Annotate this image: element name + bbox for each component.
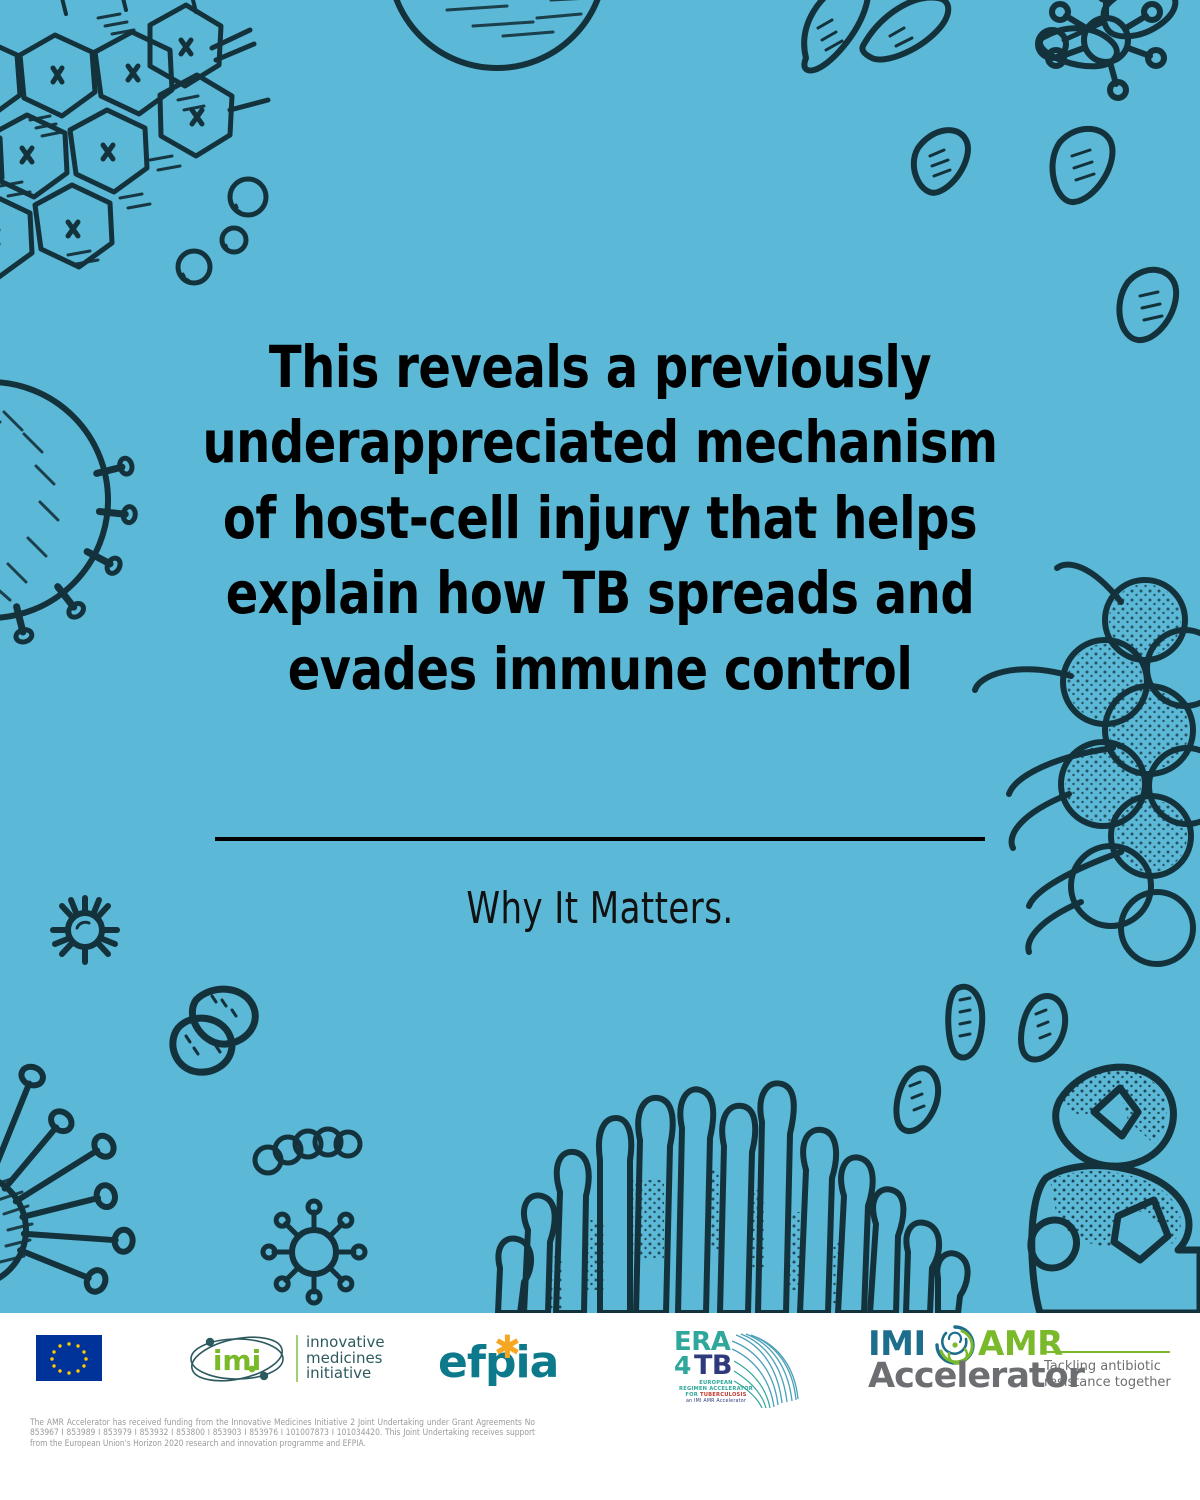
eu-stars-icon — [36, 1335, 102, 1381]
era4tb-four-text: 4 — [674, 1353, 691, 1378]
page-headline: This reveals a previously underappreciat… — [186, 330, 1014, 707]
page-subtitle: Why It Matters. — [213, 883, 987, 934]
imi-amr-accelerator-logo: IMI AMR Accelerator Tackling antibiotic — [868, 1323, 1178, 1409]
poster-root: This reveals a previously underappreciat… — [0, 0, 1200, 1500]
efpia-logo: efpia ✱ — [438, 1333, 550, 1387]
efpia-star-icon: ✱ — [494, 1331, 521, 1363]
imi-logo: imi innovative medicines initiative — [188, 1331, 373, 1387]
amr-tagline: Tackling antibiotic resistance together — [1044, 1359, 1176, 1391]
funding-disclaimer: The AMR Accelerator has received funding… — [30, 1417, 535, 1448]
era4tb-sub-for: FOR — [685, 1392, 700, 1398]
svg-text:imi: imi — [213, 1344, 261, 1377]
era4tb-logo: ERA 4 TB EUROPEAN REGIMEN ACCELERATOR FO… — [672, 1327, 802, 1409]
footer-bar: imi innovative medicines initiative efpi… — [0, 1313, 1200, 1500]
imi-text-line3: initiative — [306, 1366, 385, 1382]
era4tb-tb-text: TB — [694, 1352, 732, 1379]
amr-tagline-line1: Tackling antibiotic — [1044, 1359, 1176, 1375]
blue-illustration-panel: This reveals a previously underappreciat… — [0, 0, 1200, 1313]
divider-wrapper — [150, 837, 1050, 841]
amr-tagline-line2: resistance together — [1044, 1375, 1176, 1391]
amr-tagline-rule — [1044, 1351, 1170, 1353]
footer-logo-row: imi innovative medicines initiative efpi… — [0, 1313, 1200, 1418]
horizontal-rule — [215, 837, 985, 841]
poster-content: This reveals a previously underappreciat… — [0, 0, 1200, 1313]
imi-mark-icon: imi — [188, 1335, 286, 1383]
era4tb-fan-icon — [732, 1329, 802, 1409]
